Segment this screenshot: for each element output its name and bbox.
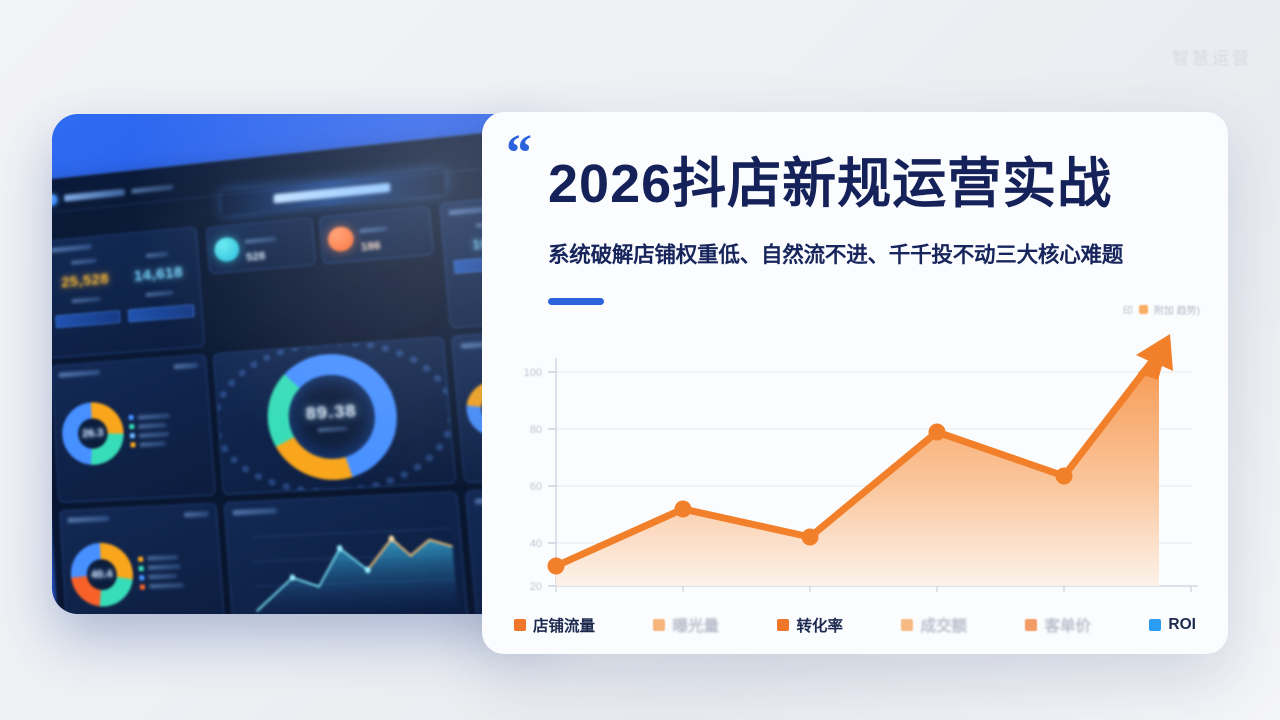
panel-donut-traffic: 26.3 xyxy=(52,354,216,503)
svg-text:100: 100 xyxy=(524,367,542,379)
kpi-right-sub xyxy=(146,291,174,297)
chip-refunds-label xyxy=(359,226,387,233)
dashboard-preview-card: 25,528 14,618 xyxy=(52,114,552,614)
growth-chart: 100 80 60 40 20 xyxy=(498,324,1212,616)
trend-area-chart xyxy=(233,511,458,614)
legend-item-3[interactable]: 成交额 xyxy=(901,614,967,636)
kpi-right-button[interactable] xyxy=(128,304,195,322)
legend-swatch-4 xyxy=(1025,619,1037,631)
legend-swatch-3 xyxy=(901,619,913,631)
chart-mini-legend-prefix: 印 xyxy=(1123,302,1133,317)
legend-swatch-5 xyxy=(1149,619,1161,631)
content-card: “ 2026抖店新规运营实战 系统破解店铺权重低、自然流不进、千千投不动三大核心… xyxy=(482,112,1228,654)
panel-trend-title xyxy=(233,508,278,515)
chip-orders-label xyxy=(245,237,276,244)
dashboard-grid: 25,528 14,618 xyxy=(52,186,552,614)
chart-mini-legend: 印 附加 趋势) xyxy=(1123,302,1200,317)
legend-label-5: ROI xyxy=(1168,616,1196,634)
gauge-value: 89.38 xyxy=(305,401,358,425)
legend-swatch-1 xyxy=(653,619,665,631)
legend-swatch-2 xyxy=(777,619,789,631)
legend-item-5[interactable]: ROI xyxy=(1149,616,1196,634)
chart-mini-legend-text: 附加 趋势) xyxy=(1154,302,1200,317)
panel-trend xyxy=(224,491,469,614)
kpi-left-value: 25,528 xyxy=(52,270,118,292)
legend-label-1: 曝光量 xyxy=(672,614,719,636)
donut-sales-chart: 40.4 xyxy=(69,542,135,608)
chip-refunds-icon xyxy=(327,225,355,252)
donut-traffic-title xyxy=(58,370,99,378)
kpi-right-value: 14,618 xyxy=(125,263,192,286)
dashboard-logo-icon xyxy=(52,193,58,206)
panel-kpi-title xyxy=(52,244,92,253)
gauge-sub xyxy=(317,426,347,432)
gauge-ring: 89.38 xyxy=(263,350,402,483)
chart-legend: 店铺流量 曝光量 转化率 成交额 客单价 ROI xyxy=(496,614,1214,636)
legend-item-2[interactable]: 转化率 xyxy=(777,614,843,636)
donut-sales-value: 40.4 xyxy=(69,542,135,608)
legend-label-2: 转化率 xyxy=(796,614,843,636)
growth-chart-svg: 100 80 60 40 20 xyxy=(498,324,1212,616)
donut-traffic-action[interactable] xyxy=(174,363,199,370)
chip-orders-value: 528 xyxy=(246,249,278,264)
chip-orders: 528 xyxy=(206,217,316,274)
legend-item-0[interactable]: 店铺流量 xyxy=(514,614,595,636)
chart-y-ticks xyxy=(548,372,556,586)
chart-y-tick-labels: 100 80 60 40 20 xyxy=(524,367,542,593)
watermark-text: 智慧运营 xyxy=(1172,44,1252,69)
page-title: 2026抖店新规运营实战 xyxy=(548,156,1208,213)
chip-orders-icon xyxy=(214,236,240,262)
panel-kpi: 25,528 14,618 xyxy=(52,226,205,358)
svg-text:40: 40 xyxy=(530,538,542,550)
donut-traffic-value: 26.3 xyxy=(60,400,125,466)
kpi-left-label xyxy=(71,259,97,265)
svg-text:60: 60 xyxy=(530,481,542,493)
kpi-right: 14,618 xyxy=(124,245,195,323)
chip-refunds-value: 186 xyxy=(360,239,389,254)
dashboard-screenshot: 25,528 14,618 xyxy=(52,118,552,614)
dashboard-title-blur xyxy=(64,189,125,202)
page-subtitle: 系统破解店铺权重低、自然流不进、千千投不动三大核心难题 xyxy=(548,238,1213,269)
panel-chips: 528 186 xyxy=(204,204,443,347)
donut-sales-action[interactable] xyxy=(184,511,209,517)
accent-divider xyxy=(548,298,604,305)
kpi-left: 25,528 xyxy=(52,252,120,329)
chart-arrow-head xyxy=(1136,334,1173,380)
chart-mini-legend-swatch xyxy=(1139,305,1148,314)
donut-traffic-legend xyxy=(129,412,173,447)
legend-label-3: 成交额 xyxy=(920,614,967,636)
dashboard-subtitle-blur xyxy=(131,185,173,194)
dashboard-banner-text xyxy=(274,182,391,203)
kpi-left-sub xyxy=(72,297,102,303)
donut-sales-title xyxy=(67,516,109,523)
svg-text:80: 80 xyxy=(530,424,542,436)
legend-label-4: 客单价 xyxy=(1044,614,1091,636)
donut-traffic-chart: 26.3 xyxy=(60,400,125,466)
slide-canvas: 智慧运营 xyxy=(0,0,1280,720)
panel-donut-sales: 40.4 xyxy=(59,503,226,614)
legend-swatch-0 xyxy=(514,619,526,631)
donut-sales-legend xyxy=(138,555,184,590)
legend-item-1[interactable]: 曝光量 xyxy=(653,614,719,636)
legend-item-4[interactable]: 客单价 xyxy=(1025,614,1091,636)
svg-text:20: 20 xyxy=(530,581,542,593)
chip-refunds: 186 xyxy=(319,206,434,265)
chart-x-ticks xyxy=(556,586,1191,592)
kpi-right-label xyxy=(146,252,168,258)
legend-label-0: 店铺流量 xyxy=(533,614,595,636)
quote-icon: “ xyxy=(506,136,532,172)
panel-gauge: 89.38 xyxy=(213,336,456,495)
kpi-left-button[interactable] xyxy=(55,310,121,328)
